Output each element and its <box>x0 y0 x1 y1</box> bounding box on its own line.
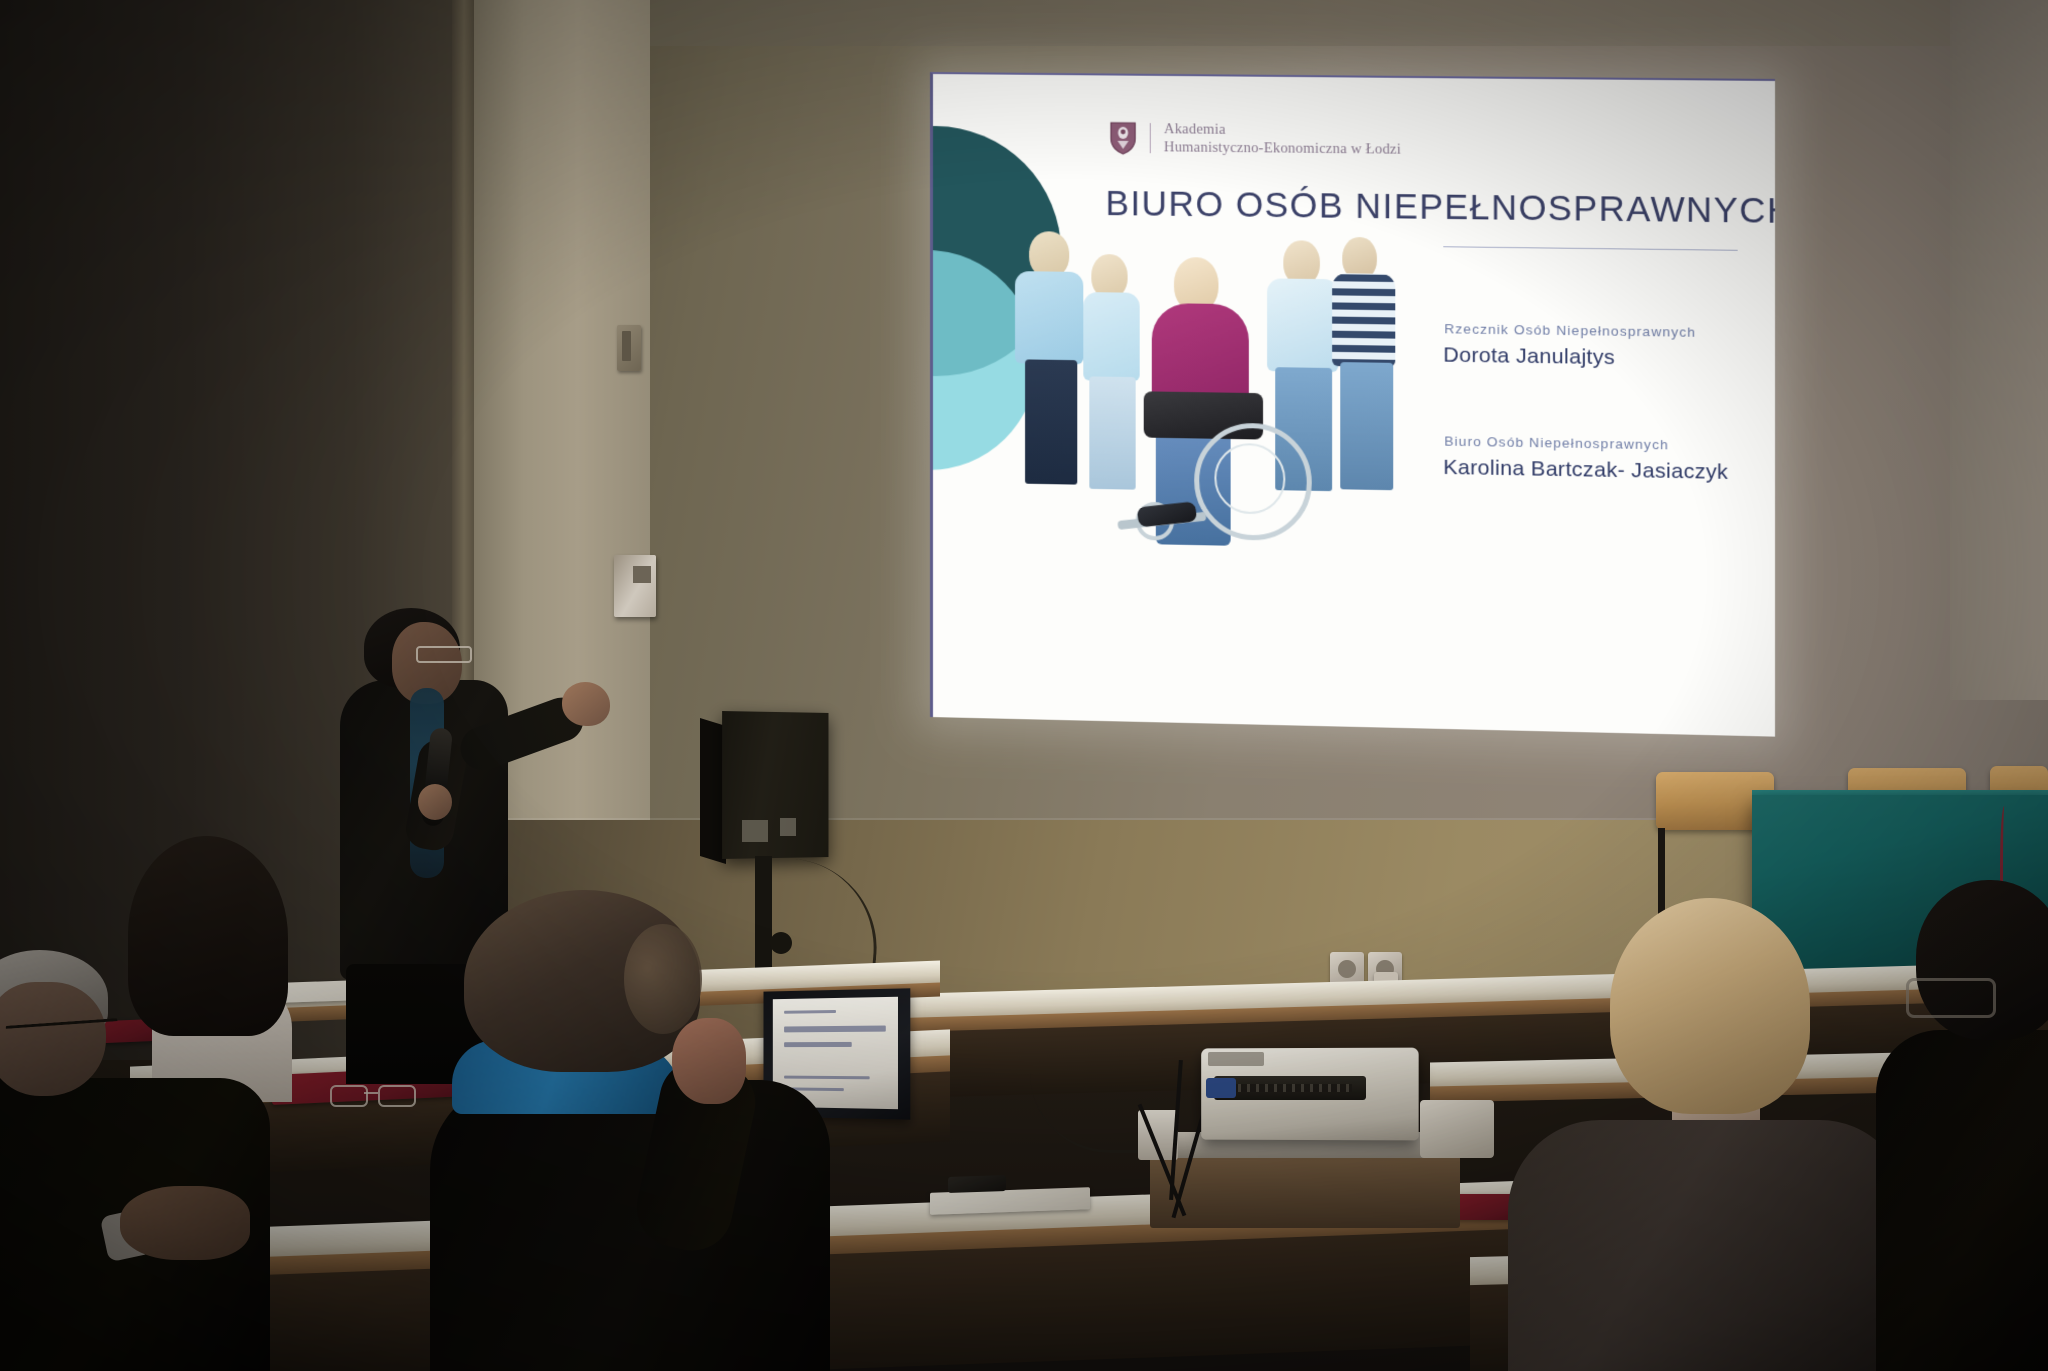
remote-control[interactable] <box>948 1175 1006 1193</box>
wall-sensor-icon <box>617 325 641 371</box>
audience-member-curly-hair <box>430 890 830 1371</box>
contact-role-2: Biuro Osób Niepełnosprawnych <box>1444 433 1669 452</box>
projector-side-box <box>1420 1100 1494 1158</box>
projector-riser-box <box>1150 1148 1460 1228</box>
logo-divider <box>1150 123 1151 153</box>
slide-photo <box>1007 213 1401 642</box>
audience-hair <box>464 890 700 1072</box>
wall-thermostat-icon[interactable] <box>614 555 656 617</box>
audience-hand-at-face <box>672 1018 746 1104</box>
photo-person-torso <box>1083 292 1139 381</box>
photo-person-torso <box>1267 278 1338 372</box>
wall-right-return <box>1950 0 2048 700</box>
presentation-slide: Akademia Humanistyczno-Ekonomiczna w Łod… <box>930 72 1775 737</box>
eyeglass-bridge <box>364 1092 378 1094</box>
audience-torso <box>1876 1030 2048 1371</box>
slide-divider <box>1443 246 1737 251</box>
photo-wheelchair-wheel-inner <box>1214 443 1285 515</box>
glasses-icon <box>416 646 472 663</box>
logo-text: Akademia Humanistyczno-Ekonomiczna w Łod… <box>1164 120 1401 159</box>
presenter-gesturing-hand <box>562 682 610 726</box>
photo-person-legs <box>1025 359 1077 484</box>
ceiling-band <box>640 0 2048 46</box>
audience-clasped-hands <box>120 1186 250 1260</box>
projection-screen: Akademia Humanistyczno-Ekonomiczna w Łod… <box>930 72 1775 737</box>
photo-person-torso <box>1332 273 1395 367</box>
glasses-icon <box>1906 978 1996 1018</box>
loudspeaker-icon <box>722 711 828 859</box>
contact-name-1: Dorota Janulajtys <box>1443 343 1615 370</box>
audience-member-blonde-woman <box>1500 898 1920 1371</box>
loudspeaker-badge <box>780 818 796 836</box>
projector-brand-label <box>1208 1052 1264 1066</box>
loudspeaker-label <box>742 820 768 842</box>
logo-line-2: Humanistyczno-Ekonomiczna w Łodzi <box>1164 139 1401 160</box>
university-logo: Akademia Humanistyczno-Ekonomiczna w Łod… <box>1109 120 1401 160</box>
audience-torso <box>1508 1120 1908 1371</box>
university-crest-icon <box>1109 121 1136 155</box>
audience-member-far-right <box>1896 880 2048 1371</box>
projector-vent <box>1214 1076 1366 1100</box>
photo-person-torso <box>1015 271 1083 364</box>
photo-person-legs <box>1340 362 1393 490</box>
presenter-hand-on-mic <box>418 784 452 820</box>
contact-role-1: Rzecznik Osób Niepełnosprawnych <box>1444 321 1696 340</box>
eyeglass-lens-right <box>378 1085 416 1107</box>
logo-line-1: Akademia <box>1164 120 1401 141</box>
lecture-hall-scene: Akademia Humanistyczno-Ekonomiczna w Łod… <box>0 0 2048 1371</box>
photo-person-legs <box>1089 376 1135 489</box>
audience-member-elderly-man <box>0 950 310 1371</box>
projector-vga-connector[interactable] <box>1206 1078 1236 1098</box>
contact-name-2: Karolina Bartczak- Jasiaczyk <box>1443 456 1728 485</box>
audience-torso <box>430 1080 830 1371</box>
audience-hair <box>1610 898 1810 1114</box>
